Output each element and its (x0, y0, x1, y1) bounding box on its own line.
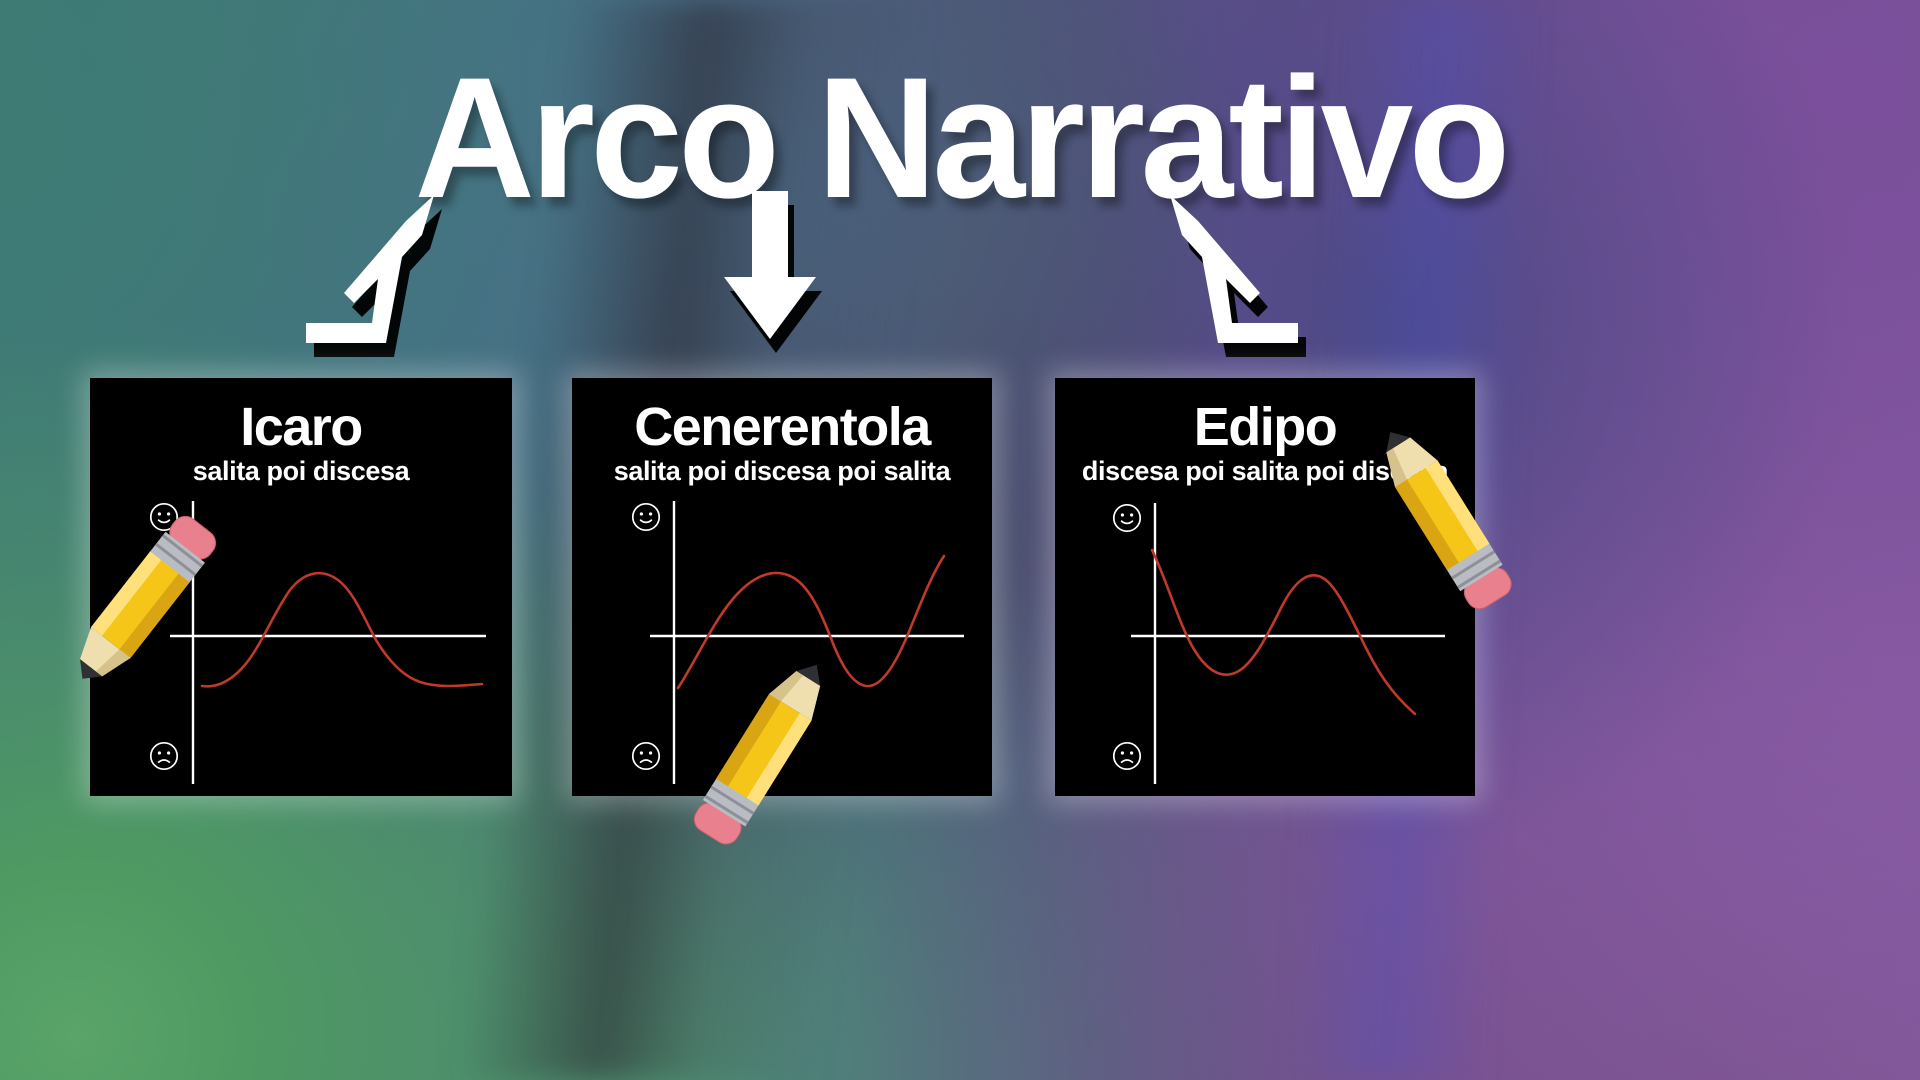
arrow-to-cenerentola (706, 185, 836, 365)
frowny-face-icon (151, 743, 177, 769)
frowny-face-icon (633, 743, 659, 769)
arrow-to-edipo (1150, 185, 1320, 360)
pencil-emoji-icaro (62, 500, 227, 700)
smiley-face-icon (1114, 505, 1140, 531)
poster-canvas: Arco Narrativo Icaro salita poi dis (0, 0, 1920, 1080)
arrow-to-icaro (280, 185, 450, 360)
pencil-emoji-cenerentola (672, 648, 847, 856)
narrative-curve-icaro (202, 573, 482, 686)
frowny-face-icon (1114, 743, 1140, 769)
smiley-face-icon (633, 504, 659, 530)
pencil-emoji-edipo (1358, 418, 1530, 623)
